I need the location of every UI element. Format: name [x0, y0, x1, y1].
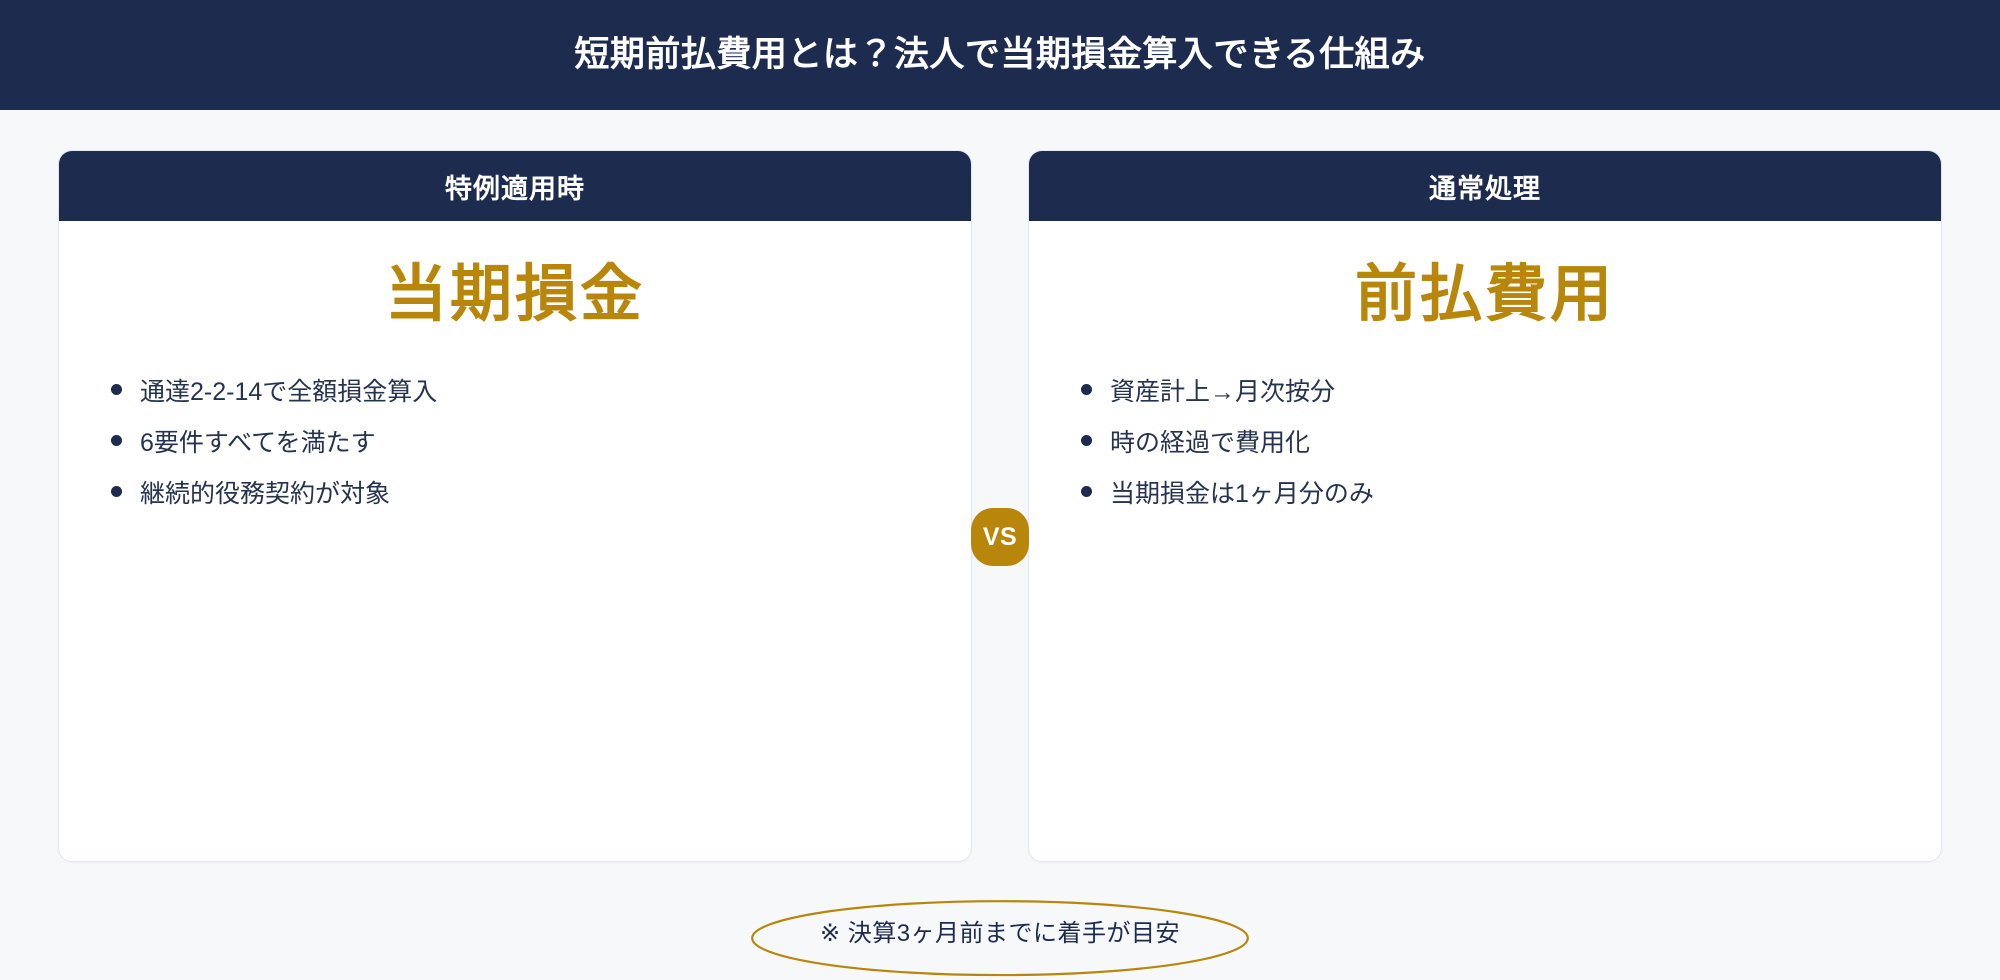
list-item-label: 当期損金は1ヶ月分のみ: [1110, 478, 1893, 512]
card-body-left: 当期損金 通達2-2-14で全額損金算入 6要件すべてを満たす 継続的役務契約が…: [59, 221, 971, 861]
card-keyword-left: 当期損金: [107, 259, 923, 330]
bullet-dot-icon: [111, 435, 122, 446]
bullet-list-left: 通達2-2-14で全額損金算入 6要件すべてを満たす 継続的役務契約が対象: [107, 376, 923, 528]
list-item: 資産計上→月次按分: [1081, 376, 1893, 410]
card-header-left: 特例適用時: [59, 151, 971, 221]
comparison-card-left: 特例適用時 当期損金 通達2-2-14で全額損金算入 6要件すべてを満たす 継: [58, 150, 972, 862]
vs-badge-label: VS: [983, 523, 1017, 552]
card-header-label-left: 特例適用時: [445, 167, 585, 206]
bullet-dot-icon: [111, 486, 122, 497]
bullet-list-right: 資産計上→月次按分 時の経過で費用化 当期損金は1ヶ月分のみ: [1077, 376, 1893, 528]
footnote-area: ※ 決算3ヶ月前までに着手が目安: [0, 880, 2000, 980]
list-item: 6要件すべてを満たす: [111, 427, 923, 461]
page-title: 短期前払費用とは？法人で当期損金算入できる仕組み: [574, 34, 1425, 76]
comparison-card-right: 通常処理 前払費用 資産計上→月次按分 時の経過で費用化 当期損金は1ヶ月分の: [1028, 150, 1942, 862]
infographic-root: 短期前払費用とは？法人で当期損金算入できる仕組み 特例適用時 当期損金 通達2-…: [0, 0, 2000, 980]
card-header-label-right: 通常処理: [1429, 167, 1541, 206]
list-item: 通達2-2-14で全額損金算入: [111, 376, 923, 410]
list-item: 当期損金は1ヶ月分のみ: [1081, 478, 1893, 512]
list-item-label: 6要件すべてを満たす: [140, 427, 923, 461]
list-item-label: 通達2-2-14で全額損金算入: [140, 376, 923, 410]
page-header-bar: 短期前払費用とは？法人で当期損金算入できる仕組み: [0, 0, 2000, 110]
footnote-callout: ※ 決算3ヶ月前までに着手が目安: [750, 899, 1250, 962]
comparison-area: 特例適用時 当期損金 通達2-2-14で全額損金算入 6要件すべてを満たす 継: [0, 110, 2000, 880]
card-header-right: 通常処理: [1029, 151, 1941, 221]
bullet-dot-icon: [1081, 435, 1092, 446]
bullet-dot-icon: [1081, 486, 1092, 497]
bullet-dot-icon: [111, 384, 122, 395]
list-item-label: 時の経過で費用化: [1110, 427, 1893, 461]
list-item: 継続的役務契約が対象: [111, 478, 923, 512]
vs-badge-icon: VS: [971, 508, 1029, 566]
list-item-label: 資産計上→月次按分: [1110, 376, 1893, 410]
bullet-dot-icon: [1081, 384, 1092, 395]
list-item-label: 継続的役務契約が対象: [140, 478, 923, 512]
list-item: 時の経過で費用化: [1081, 427, 1893, 461]
card-keyword-right: 前払費用: [1077, 259, 1893, 330]
footnote-label: ※ 決算3ヶ月前までに着手が目安: [820, 913, 1180, 948]
card-body-right: 前払費用 資産計上→月次按分 時の経過で費用化 当期損金は1ヶ月分のみ: [1029, 221, 1941, 861]
